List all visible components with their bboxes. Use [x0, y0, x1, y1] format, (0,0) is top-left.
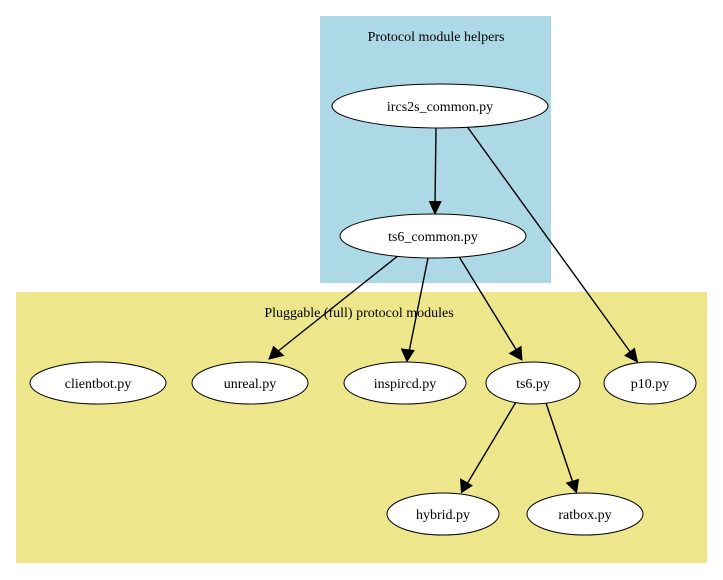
node-label-ircs2s-common: ircs2s_common.py	[387, 100, 493, 115]
diagram-canvas: Protocol module helpers Pluggable (full)…	[0, 0, 723, 580]
node-label-clientbot: clientbot.py	[65, 377, 132, 392]
node-label-ratbox: ratbox.py	[558, 508, 611, 523]
edge-line	[435, 128, 436, 205]
node-label-ts6: ts6.py	[516, 377, 550, 392]
dependency-graph: Protocol module helpers Pluggable (full)…	[0, 0, 723, 580]
node-ts6[interactable]: ts6.py	[486, 362, 580, 404]
node-label-ts6-common: ts6_common.py	[388, 230, 478, 245]
node-inspircd[interactable]: inspircd.py	[344, 362, 466, 404]
cluster-helpers-label: Protocol module helpers	[368, 30, 505, 45]
node-label-hybrid: hybrid.py	[416, 508, 470, 523]
node-ircs2s-common[interactable]: ircs2s_common.py	[332, 84, 548, 128]
node-hybrid[interactable]: hybrid.py	[387, 493, 499, 535]
cluster-modules-label: Pluggable (full) protocol modules	[264, 306, 453, 321]
node-label-unreal: unreal.py	[224, 377, 276, 392]
node-label-p10: p10.py	[631, 377, 670, 392]
node-clientbot[interactable]: clientbot.py	[30, 362, 166, 404]
node-p10[interactable]: p10.py	[604, 362, 696, 404]
node-unreal[interactable]: unreal.py	[192, 362, 308, 404]
node-ts6-common[interactable]: ts6_common.py	[340, 214, 526, 258]
node-ratbox[interactable]: ratbox.py	[527, 493, 643, 535]
node-label-inspircd: inspircd.py	[374, 377, 437, 392]
